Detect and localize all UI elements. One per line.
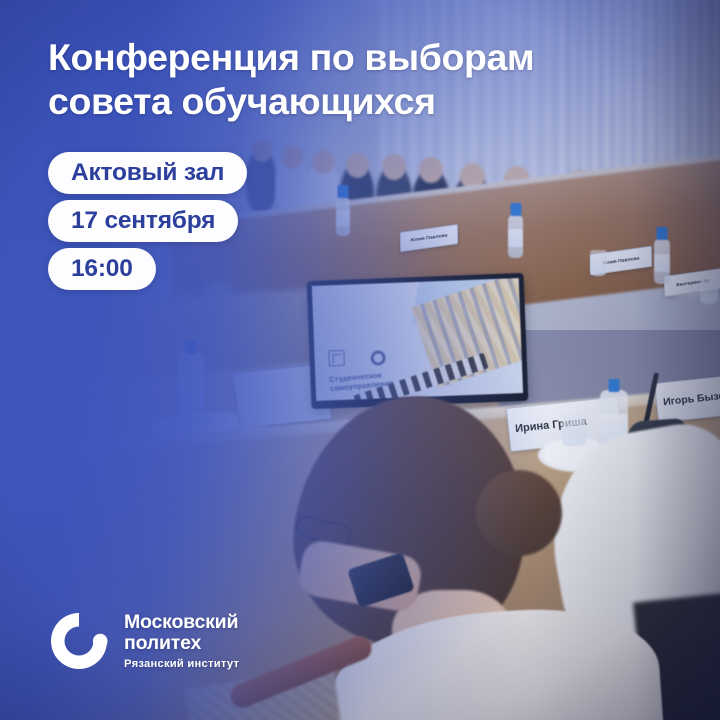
ring-logo-icon (48, 610, 110, 672)
poster: Юлия Павлова Юлия Павлова Екатерина Кр (0, 0, 720, 720)
status-badge-date: 17 сентября (48, 200, 238, 242)
title-line-1: Конференция по выборам (48, 36, 638, 80)
title-line-2: совета обучающихся (48, 80, 638, 124)
brand-logo-text: Московский политех Рязанский институт (124, 612, 239, 670)
brand-name: Московский политех (124, 612, 239, 654)
poster-content: Конференция по выборам совета обучающихс… (0, 0, 720, 720)
status-badge-venue: Актовый зал (48, 152, 247, 194)
brand-subtitle: Рязанский институт (124, 658, 239, 670)
badge-list: Актовый зал 17 сентября 16:00 (48, 152, 247, 296)
page-title: Конференция по выборам совета обучающихс… (48, 36, 638, 123)
status-badge-time: 16:00 (48, 248, 156, 290)
brand-logo: Московский политех Рязанский институт (48, 610, 239, 672)
